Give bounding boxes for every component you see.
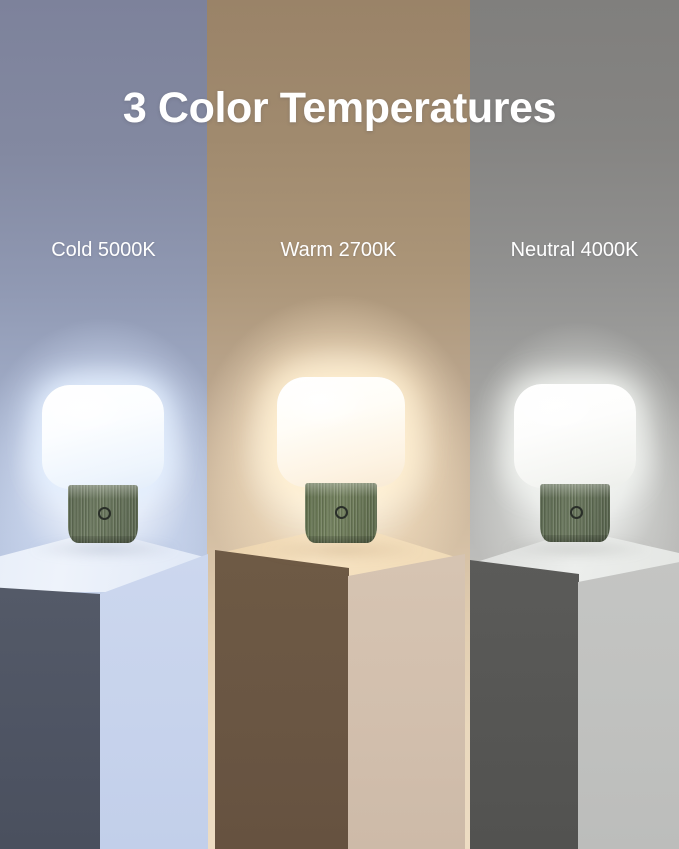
power-button-icon[interactable]: [98, 507, 111, 520]
lamp-base: [540, 484, 610, 542]
product-feature-image: 3 Color Temperatures Cold 5000K Warm 270…: [0, 0, 679, 849]
pedestal-right-face: [578, 556, 679, 849]
lamp-warm: [277, 377, 405, 547]
power-button-icon[interactable]: [335, 506, 348, 519]
caption-neutral: Neutral 4000K: [470, 239, 679, 262]
lamp-base-highlight: [68, 485, 138, 499]
pedestal-right-face: [100, 554, 208, 849]
lamp-shade: [42, 385, 164, 489]
lamp-base-highlight: [305, 483, 377, 497]
pedestal-left-face: [0, 584, 101, 849]
pedestal-left-face: [215, 550, 349, 849]
headline: 3 Color Temperatures: [0, 84, 679, 133]
lamp-base-highlight: [540, 484, 610, 498]
pedestal-cold: [0, 530, 208, 849]
lamp-base: [305, 483, 377, 543]
lamp-shade: [277, 377, 405, 487]
lamp-base-lip: [305, 536, 377, 543]
lamp-shade: [514, 384, 636, 488]
lamp-base: [68, 485, 138, 543]
caption-cold: Cold 5000K: [0, 239, 207, 262]
power-button-icon[interactable]: [570, 506, 583, 519]
pedestal-warm: [215, 524, 465, 849]
lamp-cold: [42, 385, 164, 545]
lamp-neutral: [514, 384, 636, 544]
pedestal-left-face: [470, 560, 579, 849]
caption-warm: Warm 2700K: [207, 239, 470, 262]
lamp-base-lip: [540, 535, 610, 542]
lamp-base-lip: [68, 536, 138, 543]
pedestal-neutral: [470, 530, 679, 849]
pedestal-right-face: [348, 554, 465, 849]
